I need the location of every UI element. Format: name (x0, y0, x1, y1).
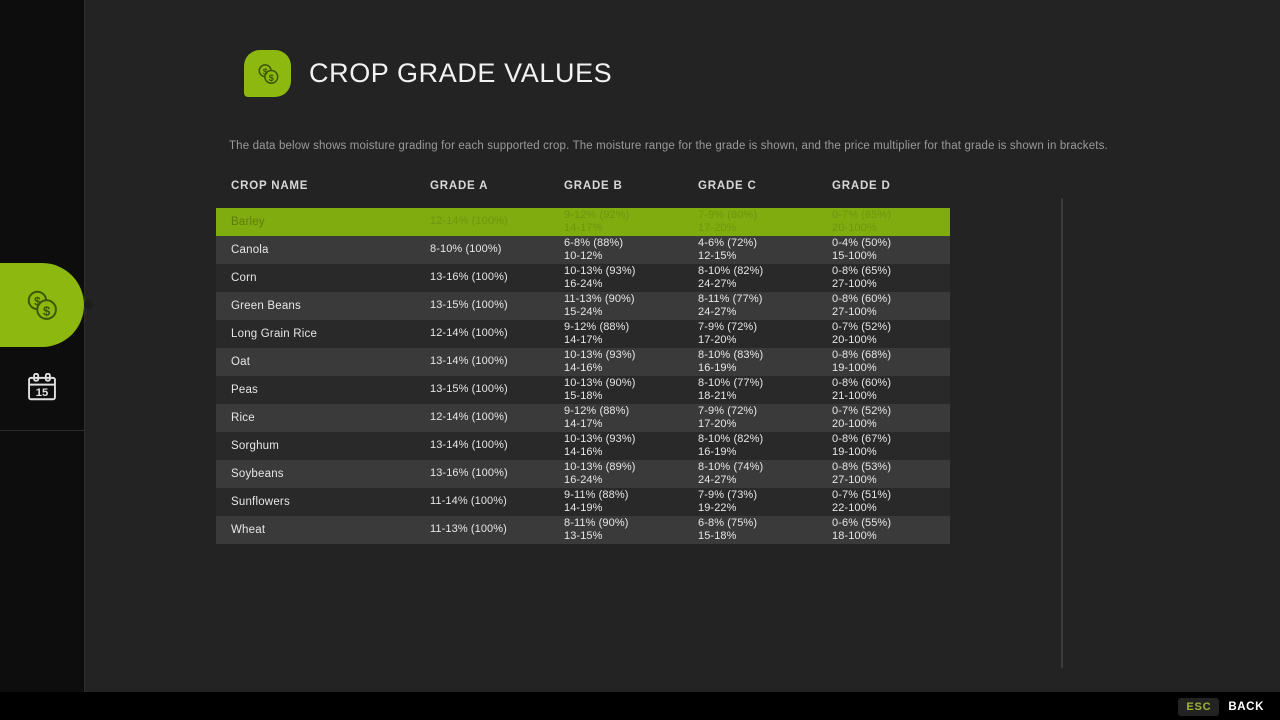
range-primary: 10-13% (93%) (564, 266, 698, 278)
range-primary: 6-8% (88%) (564, 238, 698, 250)
sidebar-item-calendar[interactable]: 15 (0, 346, 84, 430)
range-primary: 0-7% (65%) (832, 210, 952, 222)
range-secondary: 15-18% (564, 391, 698, 403)
cell-grade-c: 6-8% (75%)15-18% (698, 518, 832, 543)
cell-crop-name: Canola (231, 244, 430, 256)
range-primary: 4-6% (72%) (698, 238, 832, 250)
cell-grade-c: 8-10% (82%)24-27% (698, 266, 832, 291)
range-secondary: 14-16% (564, 363, 698, 375)
cell-crop-name: Rice (231, 412, 430, 424)
range-primary: 12-14% (100%) (430, 412, 564, 424)
range-secondary: 18-100% (832, 531, 952, 543)
cell-grade-b: 10-13% (90%)15-18% (564, 378, 698, 403)
esc-key-badge[interactable]: ESC (1178, 698, 1219, 716)
range-primary: 0-7% (51%) (832, 490, 952, 502)
cell-grade-c: 8-10% (83%)16-19% (698, 350, 832, 375)
range-secondary: 24-27% (698, 307, 832, 319)
range-secondary: 19-22% (698, 503, 832, 515)
cell-crop-name: Sunflowers (231, 496, 430, 508)
back-label[interactable]: BACK (1228, 701, 1264, 713)
cell-crop-name: Soybeans (231, 468, 430, 480)
cell-grade-d: 0-7% (52%)20-100% (832, 322, 952, 347)
main-panel: $ $ CROP GRADE VALUES The data below sho… (84, 0, 1280, 692)
calendar-day-label: 15 (36, 387, 49, 399)
cell-crop-name: Oat (231, 356, 430, 368)
cell-grade-a: 13-15% (100%) (430, 384, 564, 396)
cell-grade-a: 12-14% (100%) (430, 328, 564, 340)
range-primary: 13-16% (100%) (430, 468, 564, 480)
cell-grade-d: 0-8% (60%)27-100% (832, 294, 952, 319)
cell-crop-name: Barley (231, 216, 430, 228)
cell-grade-a: 11-13% (100%) (430, 524, 564, 536)
range-primary: 0-8% (53%) (832, 462, 952, 474)
range-secondary: 16-24% (564, 475, 698, 487)
range-secondary: 22-100% (832, 503, 952, 515)
cell-grade-d: 0-4% (50%)15-100% (832, 238, 952, 263)
svg-text:$: $ (43, 303, 51, 318)
range-secondary: 24-27% (698, 475, 832, 487)
range-secondary: 16-24% (564, 279, 698, 291)
table-body: Barley12-14% (100%)9-12% (92%)14-17%7-9%… (216, 208, 950, 544)
range-secondary: 16-19% (698, 447, 832, 459)
range-primary: 0-7% (52%) (832, 406, 952, 418)
svg-text:$: $ (268, 72, 274, 82)
cell-grade-b: 9-11% (88%)14-19% (564, 490, 698, 515)
range-secondary: 12-15% (698, 251, 832, 263)
range-primary: 12-14% (100%) (430, 328, 564, 340)
cell-grade-b: 9-12% (92%)14-17% (564, 210, 698, 235)
range-primary: 8-11% (90%) (564, 518, 698, 530)
range-primary: 13-15% (100%) (430, 384, 564, 396)
range-primary: 10-13% (90%) (564, 378, 698, 390)
range-primary: 7-9% (72%) (698, 322, 832, 334)
range-secondary: 17-20% (698, 223, 832, 235)
range-secondary: 14-17% (564, 223, 698, 235)
cell-grade-c: 8-11% (77%)24-27% (698, 294, 832, 319)
table-row[interactable]: Green Beans13-15% (100%)11-13% (90%)15-2… (216, 292, 950, 320)
range-primary: 0-6% (55%) (832, 518, 952, 530)
range-primary: 13-15% (100%) (430, 300, 564, 312)
cell-crop-name: Long Grain Rice (231, 328, 430, 340)
range-primary: 0-4% (50%) (832, 238, 952, 250)
table-row[interactable]: Sunflowers11-14% (100%)9-11% (88%)14-19%… (216, 488, 950, 516)
range-secondary: 19-100% (832, 447, 952, 459)
cell-grade-d: 0-8% (53%)27-100% (832, 462, 952, 487)
cell-grade-d: 0-8% (68%)19-100% (832, 350, 952, 375)
column-header-grade-c: GRADE C (698, 180, 832, 192)
range-secondary: 17-20% (698, 419, 832, 431)
cell-grade-c: 7-9% (80%)17-20% (698, 210, 832, 235)
range-primary: 9-12% (88%) (564, 322, 698, 334)
table-row[interactable]: Rice12-14% (100%)9-12% (88%)14-17%7-9% (… (216, 404, 950, 432)
cell-grade-a: 11-14% (100%) (430, 496, 564, 508)
range-secondary: 27-100% (832, 307, 952, 319)
range-primary: 10-13% (93%) (564, 350, 698, 362)
cell-grade-d: 0-6% (55%)18-100% (832, 518, 952, 543)
range-primary: 8-10% (77%) (698, 378, 832, 390)
cell-grade-b: 8-11% (90%)13-15% (564, 518, 698, 543)
cell-grade-d: 0-7% (52%)20-100% (832, 406, 952, 431)
column-header-grade-a: GRADE A (430, 180, 564, 192)
range-primary: 0-8% (60%) (832, 294, 952, 306)
range-primary: 0-8% (60%) (832, 378, 952, 390)
range-secondary: 13-15% (564, 531, 698, 543)
range-secondary: 27-100% (832, 475, 952, 487)
cell-crop-name: Wheat (231, 524, 430, 536)
back-control[interactable]: ESC BACK (1178, 698, 1264, 716)
cell-grade-a: 12-14% (100%) (430, 216, 564, 228)
table-row[interactable]: Soybeans13-16% (100%)10-13% (89%)16-24%8… (216, 460, 950, 488)
cell-grade-b: 9-12% (88%)14-17% (564, 406, 698, 431)
cell-grade-b: 10-13% (89%)16-24% (564, 462, 698, 487)
table-row[interactable]: Peas13-15% (100%)10-13% (90%)15-18%8-10%… (216, 376, 950, 404)
range-secondary: 17-20% (698, 335, 832, 347)
range-secondary: 15-18% (698, 531, 832, 543)
table-row[interactable]: Sorghum13-14% (100%)10-13% (93%)14-16%8-… (216, 432, 950, 460)
table-row[interactable]: Oat13-14% (100%)10-13% (93%)14-16%8-10% … (216, 348, 950, 376)
cell-crop-name: Green Beans (231, 300, 430, 312)
range-primary: 8-10% (100%) (430, 244, 564, 256)
svg-text:$: $ (34, 295, 41, 309)
range-primary: 11-14% (100%) (430, 496, 564, 508)
range-primary: 8-10% (82%) (698, 266, 832, 278)
range-secondary: 14-19% (564, 503, 698, 515)
screen: $ $ CROP GRADE VALUES The data below sho… (0, 0, 1280, 720)
range-primary: 0-7% (52%) (832, 322, 952, 334)
cell-grade-c: 8-10% (74%)24-27% (698, 462, 832, 487)
table-row[interactable]: Barley12-14% (100%)9-12% (92%)14-17%7-9%… (216, 208, 950, 236)
page-description: The data below shows moisture grading fo… (229, 140, 1108, 152)
range-primary: 8-11% (77%) (698, 294, 832, 306)
cell-grade-a: 13-14% (100%) (430, 356, 564, 368)
range-secondary: 15-24% (564, 307, 698, 319)
coins-icon: $ $ (244, 50, 291, 97)
range-primary: 13-16% (100%) (430, 272, 564, 284)
cell-grade-b: 11-13% (90%)15-24% (564, 294, 698, 319)
column-header-grade-d: GRADE D (832, 180, 952, 192)
table-header-row: CROP NAME GRADE A GRADE B GRADE C GRADE … (216, 180, 950, 202)
coins-icon: $ $ (21, 284, 63, 326)
vertical-scrollbar[interactable] (1061, 198, 1063, 668)
cell-grade-b: 10-13% (93%)14-16% (564, 434, 698, 459)
cell-grade-d: 0-8% (60%)21-100% (832, 378, 952, 403)
page-header: $ $ CROP GRADE VALUES (244, 50, 612, 97)
sidebar-active-notch (84, 300, 93, 309)
cell-grade-a: 13-16% (100%) (430, 272, 564, 284)
cell-grade-b: 6-8% (88%)10-12% (564, 238, 698, 263)
cell-grade-a: 13-15% (100%) (430, 300, 564, 312)
range-primary: 8-10% (83%) (698, 350, 832, 362)
cell-grade-a: 8-10% (100%) (430, 244, 564, 256)
range-primary: 11-13% (90%) (564, 294, 698, 306)
column-header-grade-b: GRADE B (564, 180, 698, 192)
crop-grade-table: CROP NAME GRADE A GRADE B GRADE C GRADE … (216, 180, 950, 544)
cell-grade-a: 13-16% (100%) (430, 468, 564, 480)
range-secondary: 14-17% (564, 419, 698, 431)
sidebar-item-crop-grade-values[interactable]: $ $ (0, 263, 84, 347)
calendar-icon: 15 (24, 370, 60, 406)
range-secondary: 27-100% (832, 279, 952, 291)
table-row[interactable]: Long Grain Rice12-14% (100%)9-12% (88%)1… (216, 320, 950, 348)
range-primary: 9-12% (88%) (564, 406, 698, 418)
range-primary: 8-10% (82%) (698, 434, 832, 446)
range-secondary: 20-100% (832, 419, 952, 431)
cell-crop-name: Corn (231, 272, 430, 284)
cell-grade-a: 12-14% (100%) (430, 412, 564, 424)
table-row[interactable]: Corn13-16% (100%)10-13% (93%)16-24%8-10%… (216, 264, 950, 292)
range-secondary: 24-27% (698, 279, 832, 291)
range-primary: 0-8% (65%) (832, 266, 952, 278)
range-primary: 8-10% (74%) (698, 462, 832, 474)
range-secondary: 16-19% (698, 363, 832, 375)
range-primary: 0-8% (68%) (832, 350, 952, 362)
range-primary: 9-12% (92%) (564, 210, 698, 222)
range-primary: 11-13% (100%) (430, 524, 564, 536)
sidebar: $ $ 15 (0, 0, 84, 692)
cell-grade-c: 8-10% (77%)18-21% (698, 378, 832, 403)
page-title: CROP GRADE VALUES (309, 58, 612, 89)
cell-grade-c: 7-9% (72%)17-20% (698, 322, 832, 347)
table-row[interactable]: Canola8-10% (100%)6-8% (88%)10-12%4-6% (… (216, 236, 950, 264)
range-primary: 6-8% (75%) (698, 518, 832, 530)
table-row[interactable]: Wheat11-13% (100%)8-11% (90%)13-15%6-8% … (216, 516, 950, 544)
footer-bar (0, 692, 1280, 720)
cell-grade-c: 8-10% (82%)16-19% (698, 434, 832, 459)
cell-grade-d: 0-8% (65%)27-100% (832, 266, 952, 291)
range-primary: 7-9% (80%) (698, 210, 832, 222)
range-primary: 12-14% (100%) (430, 216, 564, 228)
range-primary: 13-14% (100%) (430, 440, 564, 452)
cell-grade-d: 0-7% (65%)20-100% (832, 210, 952, 235)
range-primary: 0-8% (67%) (832, 434, 952, 446)
cell-grade-a: 13-14% (100%) (430, 440, 564, 452)
range-primary: 7-9% (73%) (698, 490, 832, 502)
cell-grade-c: 7-9% (73%)19-22% (698, 490, 832, 515)
svg-text:$: $ (262, 66, 267, 76)
range-secondary: 15-100% (832, 251, 952, 263)
range-secondary: 20-100% (832, 223, 952, 235)
range-secondary: 19-100% (832, 363, 952, 375)
cell-grade-b: 9-12% (88%)14-17% (564, 322, 698, 347)
column-header-crop-name: CROP NAME (231, 180, 430, 192)
cell-grade-d: 0-7% (51%)22-100% (832, 490, 952, 515)
cell-grade-b: 10-13% (93%)16-24% (564, 266, 698, 291)
sidebar-divider (0, 430, 84, 431)
range-primary: 13-14% (100%) (430, 356, 564, 368)
range-primary: 9-11% (88%) (564, 490, 698, 502)
cell-crop-name: Sorghum (231, 440, 430, 452)
range-secondary: 20-100% (832, 335, 952, 347)
range-secondary: 14-17% (564, 335, 698, 347)
range-secondary: 14-16% (564, 447, 698, 459)
cell-crop-name: Peas (231, 384, 430, 396)
range-secondary: 18-21% (698, 391, 832, 403)
range-secondary: 10-12% (564, 251, 698, 263)
cell-grade-c: 7-9% (72%)17-20% (698, 406, 832, 431)
cell-grade-d: 0-8% (67%)19-100% (832, 434, 952, 459)
range-primary: 7-9% (72%) (698, 406, 832, 418)
range-secondary: 21-100% (832, 391, 952, 403)
cell-grade-b: 10-13% (93%)14-16% (564, 350, 698, 375)
range-primary: 10-13% (93%) (564, 434, 698, 446)
range-primary: 10-13% (89%) (564, 462, 698, 474)
cell-grade-c: 4-6% (72%)12-15% (698, 238, 832, 263)
